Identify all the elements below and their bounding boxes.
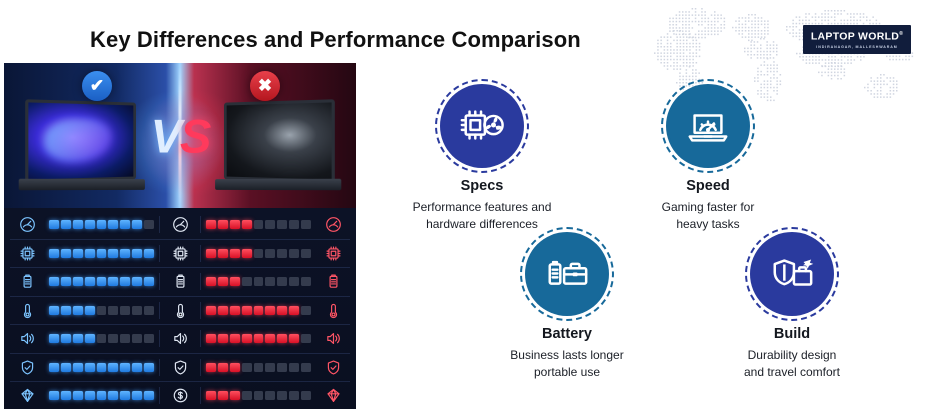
bar-segment <box>144 220 154 229</box>
bar-segment <box>242 334 252 343</box>
bar-segment <box>301 391 311 400</box>
bar-segment <box>242 277 252 286</box>
bar-segment <box>61 391 71 400</box>
bar-segment <box>144 277 154 286</box>
feature-desc-line1: Durability design <box>682 347 902 364</box>
bar-segment <box>49 249 59 258</box>
logo-registered-mark: ® <box>899 31 903 37</box>
bar-segment <box>254 306 264 315</box>
spec-comparison-panel <box>4 208 356 409</box>
bar-segment <box>144 363 154 372</box>
feature-desc-battery: Business lasts longerportable use <box>457 347 677 382</box>
feature-desc-line2: portable use <box>457 364 677 381</box>
bar-segment <box>289 249 299 258</box>
value-icon <box>159 387 201 404</box>
bar-segment <box>265 334 275 343</box>
bar-segment <box>120 306 130 315</box>
bar-segment <box>85 306 95 315</box>
feature-card-specs[interactable]: SpecsPerformance features andhardware di… <box>372 84 592 234</box>
spec-row <box>10 325 350 354</box>
shield-icon <box>159 359 201 376</box>
bar-segment <box>108 334 118 343</box>
bar-segment <box>230 306 240 315</box>
bar-segment <box>132 306 142 315</box>
bar-segment <box>73 363 83 372</box>
bar-segment <box>301 334 311 343</box>
value-icon <box>316 387 350 404</box>
thermometer-icon <box>316 302 350 319</box>
bar-segment <box>301 249 311 258</box>
bar-segment <box>120 220 130 229</box>
bar-segment <box>254 277 264 286</box>
comparison-card: VS ✔ ✖ <box>4 63 356 409</box>
bar-segment <box>97 363 107 372</box>
shield-icon <box>316 359 350 376</box>
bar-segment <box>120 277 130 286</box>
bar-segment <box>73 391 83 400</box>
bar-segment <box>61 277 71 286</box>
bar-segment <box>120 334 130 343</box>
shield-icon <box>10 359 44 376</box>
bar-segment <box>49 334 59 343</box>
bar-segment <box>277 249 287 258</box>
battery-icon <box>10 273 44 290</box>
feature-card-battery[interactable]: BatteryBusiness lasts longerportable use <box>457 232 677 382</box>
bar-segment <box>97 334 107 343</box>
speedometer-icon <box>316 216 350 233</box>
bar-segment <box>206 220 216 229</box>
spec-bar-red <box>201 220 316 229</box>
feature-card-build[interactable]: BuildDurability designand travel comfort <box>682 232 902 382</box>
spec-row <box>10 211 350 240</box>
feature-desc-line1: Gaming faster for <box>598 199 818 216</box>
bar-segment <box>144 391 154 400</box>
spec-bar-blue <box>44 249 159 258</box>
bar-segment <box>132 391 142 400</box>
bar-segment <box>120 249 130 258</box>
bar-segment <box>242 391 252 400</box>
bar-segment <box>265 277 275 286</box>
cpu-chip-icon <box>159 245 201 262</box>
bar-segment <box>120 391 130 400</box>
bar-segment <box>218 334 228 343</box>
spec-bar-red <box>201 306 316 315</box>
bar-segment <box>254 363 264 372</box>
spec-bar-red <box>201 249 316 258</box>
feature-title-build: Build <box>682 327 902 343</box>
bar-segment <box>230 220 240 229</box>
bar-segment <box>277 306 287 315</box>
bar-segment <box>218 363 228 372</box>
logo-text: LAPTOP WORLD® <box>811 29 903 43</box>
feature-grid: SpecsPerformance features andhardware di… <box>372 84 932 404</box>
bar-segment <box>254 391 264 400</box>
bar-segment <box>108 249 118 258</box>
bar-segment <box>97 391 107 400</box>
feature-title-specs: Specs <box>372 179 592 195</box>
bar-segment <box>97 277 107 286</box>
bar-segment <box>132 277 142 286</box>
feature-icon-circle-build <box>750 232 834 316</box>
spec-bar-red <box>201 391 316 400</box>
gaming-laptop-base <box>19 179 145 190</box>
bar-segment <box>73 306 83 315</box>
laptop-speedometer-icon <box>685 103 731 149</box>
speedometer-icon <box>10 216 44 233</box>
bar-segment <box>49 391 59 400</box>
spec-bar-blue <box>44 277 159 286</box>
feature-title-battery: Battery <box>457 327 677 343</box>
bar-segment <box>230 363 240 372</box>
bar-segment <box>242 249 252 258</box>
feature-desc-line1: Business lasts longer <box>457 347 677 364</box>
feature-desc-build: Durability designand travel comfort <box>682 347 902 382</box>
bar-segment <box>289 306 299 315</box>
feature-icon-circle-speed <box>666 84 750 168</box>
bar-segment <box>242 220 252 229</box>
bar-segment <box>301 220 311 229</box>
bar-segment <box>265 363 275 372</box>
business-laptop-base <box>215 179 341 190</box>
bar-segment <box>254 334 264 343</box>
bar-segment <box>49 277 59 286</box>
bar-segment <box>218 220 228 229</box>
business-laptop-screen <box>224 99 335 183</box>
bar-segment <box>85 277 95 286</box>
bar-segment <box>108 220 118 229</box>
spec-bar-blue <box>44 391 159 400</box>
bar-segment <box>289 363 299 372</box>
bar-segment <box>218 277 228 286</box>
bar-segment <box>132 249 142 258</box>
bar-segment <box>254 249 264 258</box>
spec-row <box>10 354 350 383</box>
vs-label-v: V <box>151 109 180 162</box>
bar-segment <box>108 277 118 286</box>
spec-row <box>10 268 350 297</box>
bar-segment <box>289 391 299 400</box>
cpu-fan-icon <box>459 103 505 149</box>
bar-segment <box>132 334 142 343</box>
feature-desc-speed: Gaming faster forheavy tasks <box>598 199 818 234</box>
vs-label-s: S <box>180 109 209 162</box>
bar-segment <box>73 277 83 286</box>
page-title: Key Differences and Performance Comparis… <box>90 27 581 53</box>
speedometer-icon <box>159 216 201 233</box>
bar-segment <box>97 249 107 258</box>
feature-icon-circle-battery <box>525 232 609 316</box>
bar-segment <box>49 363 59 372</box>
bar-segment <box>97 220 107 229</box>
bar-segment <box>277 363 287 372</box>
thermometer-icon <box>159 302 201 319</box>
bar-segment <box>85 220 95 229</box>
spec-row <box>10 382 350 409</box>
feature-title-speed: Speed <box>598 179 818 195</box>
logo-tagline: INDIRANAGAR, MALLESHWARAM <box>816 43 897 50</box>
bar-segment <box>144 306 154 315</box>
spec-row <box>10 297 350 326</box>
bar-segment <box>206 249 216 258</box>
feature-icon-circle-specs <box>440 84 524 168</box>
bar-segment <box>85 334 95 343</box>
bar-segment <box>218 391 228 400</box>
bar-segment <box>206 306 216 315</box>
cpu-chip-icon <box>316 245 350 262</box>
spec-bar-blue <box>44 306 159 315</box>
spec-bar-red <box>201 363 316 372</box>
brand-logo: LAPTOP WORLD® INDIRANAGAR, MALLESHWARAM <box>803 25 911 54</box>
bar-segment <box>206 277 216 286</box>
bar-segment <box>289 334 299 343</box>
bar-segment <box>120 363 130 372</box>
bar-segment <box>97 306 107 315</box>
bar-segment <box>206 363 216 372</box>
bar-segment <box>230 277 240 286</box>
bar-segment <box>230 334 240 343</box>
battery-icon <box>159 273 201 290</box>
gaming-laptop-screen <box>25 99 136 183</box>
bar-segment <box>301 363 311 372</box>
vs-hero-image: VS ✔ ✖ <box>4 63 356 208</box>
bar-segment <box>265 220 275 229</box>
bar-segment <box>277 220 287 229</box>
bar-segment <box>254 220 264 229</box>
cpu-chip-icon <box>10 245 44 262</box>
vs-label: VS <box>151 112 210 159</box>
bar-segment <box>277 334 287 343</box>
spec-bar-red <box>201 277 316 286</box>
bar-segment <box>108 391 118 400</box>
bar-segment <box>49 306 59 315</box>
feature-desc-line2: and travel comfort <box>682 364 902 381</box>
bar-segment <box>230 391 240 400</box>
bar-segment <box>61 249 71 258</box>
bar-segment <box>301 306 311 315</box>
speaker-icon <box>316 330 350 347</box>
thermometer-icon <box>10 302 44 319</box>
speaker-icon <box>10 330 44 347</box>
feature-desc-specs: Performance features andhardware differe… <box>372 199 592 234</box>
bar-segment <box>277 391 287 400</box>
bar-segment <box>132 363 142 372</box>
bar-segment <box>61 363 71 372</box>
bar-segment <box>108 306 118 315</box>
spec-bar-red <box>201 334 316 343</box>
bar-segment <box>301 277 311 286</box>
feature-desc-line1: Performance features and <box>372 199 592 216</box>
bar-segment <box>61 306 71 315</box>
spec-row <box>10 240 350 269</box>
battery-icon <box>316 273 350 290</box>
bar-segment <box>73 334 83 343</box>
bar-segment <box>242 363 252 372</box>
spec-bar-blue <box>44 334 159 343</box>
bar-segment <box>73 220 83 229</box>
bar-segment <box>206 334 216 343</box>
bar-segment <box>206 391 216 400</box>
bar-segment <box>61 334 71 343</box>
bar-segment <box>265 249 275 258</box>
spec-bar-blue <box>44 220 159 229</box>
bar-segment <box>218 249 228 258</box>
bar-segment <box>265 306 275 315</box>
bar-segment <box>144 249 154 258</box>
shield-suitcase-plane-icon <box>769 251 815 297</box>
bar-segment <box>289 277 299 286</box>
value-icon <box>10 387 44 404</box>
bar-segment <box>218 306 228 315</box>
battery-briefcase-icon <box>544 251 590 297</box>
bar-segment <box>73 249 83 258</box>
bar-segment <box>289 220 299 229</box>
bar-segment <box>132 220 142 229</box>
bar-segment <box>85 249 95 258</box>
bar-segment <box>242 306 252 315</box>
logo-name: LAPTOP WORLD <box>811 30 899 42</box>
check-badge-icon: ✔ <box>82 71 112 101</box>
bar-segment <box>277 277 287 286</box>
bar-segment <box>230 249 240 258</box>
bar-segment <box>85 391 95 400</box>
feature-card-speed[interactable]: SpeedGaming faster forheavy tasks <box>598 84 818 234</box>
bar-segment <box>265 391 275 400</box>
cross-badge-icon: ✖ <box>250 71 280 101</box>
bar-segment <box>61 220 71 229</box>
spec-bar-blue <box>44 363 159 372</box>
bar-segment <box>49 220 59 229</box>
bar-segment <box>85 363 95 372</box>
speaker-icon <box>159 330 201 347</box>
bar-segment <box>108 363 118 372</box>
bar-segment <box>144 334 154 343</box>
